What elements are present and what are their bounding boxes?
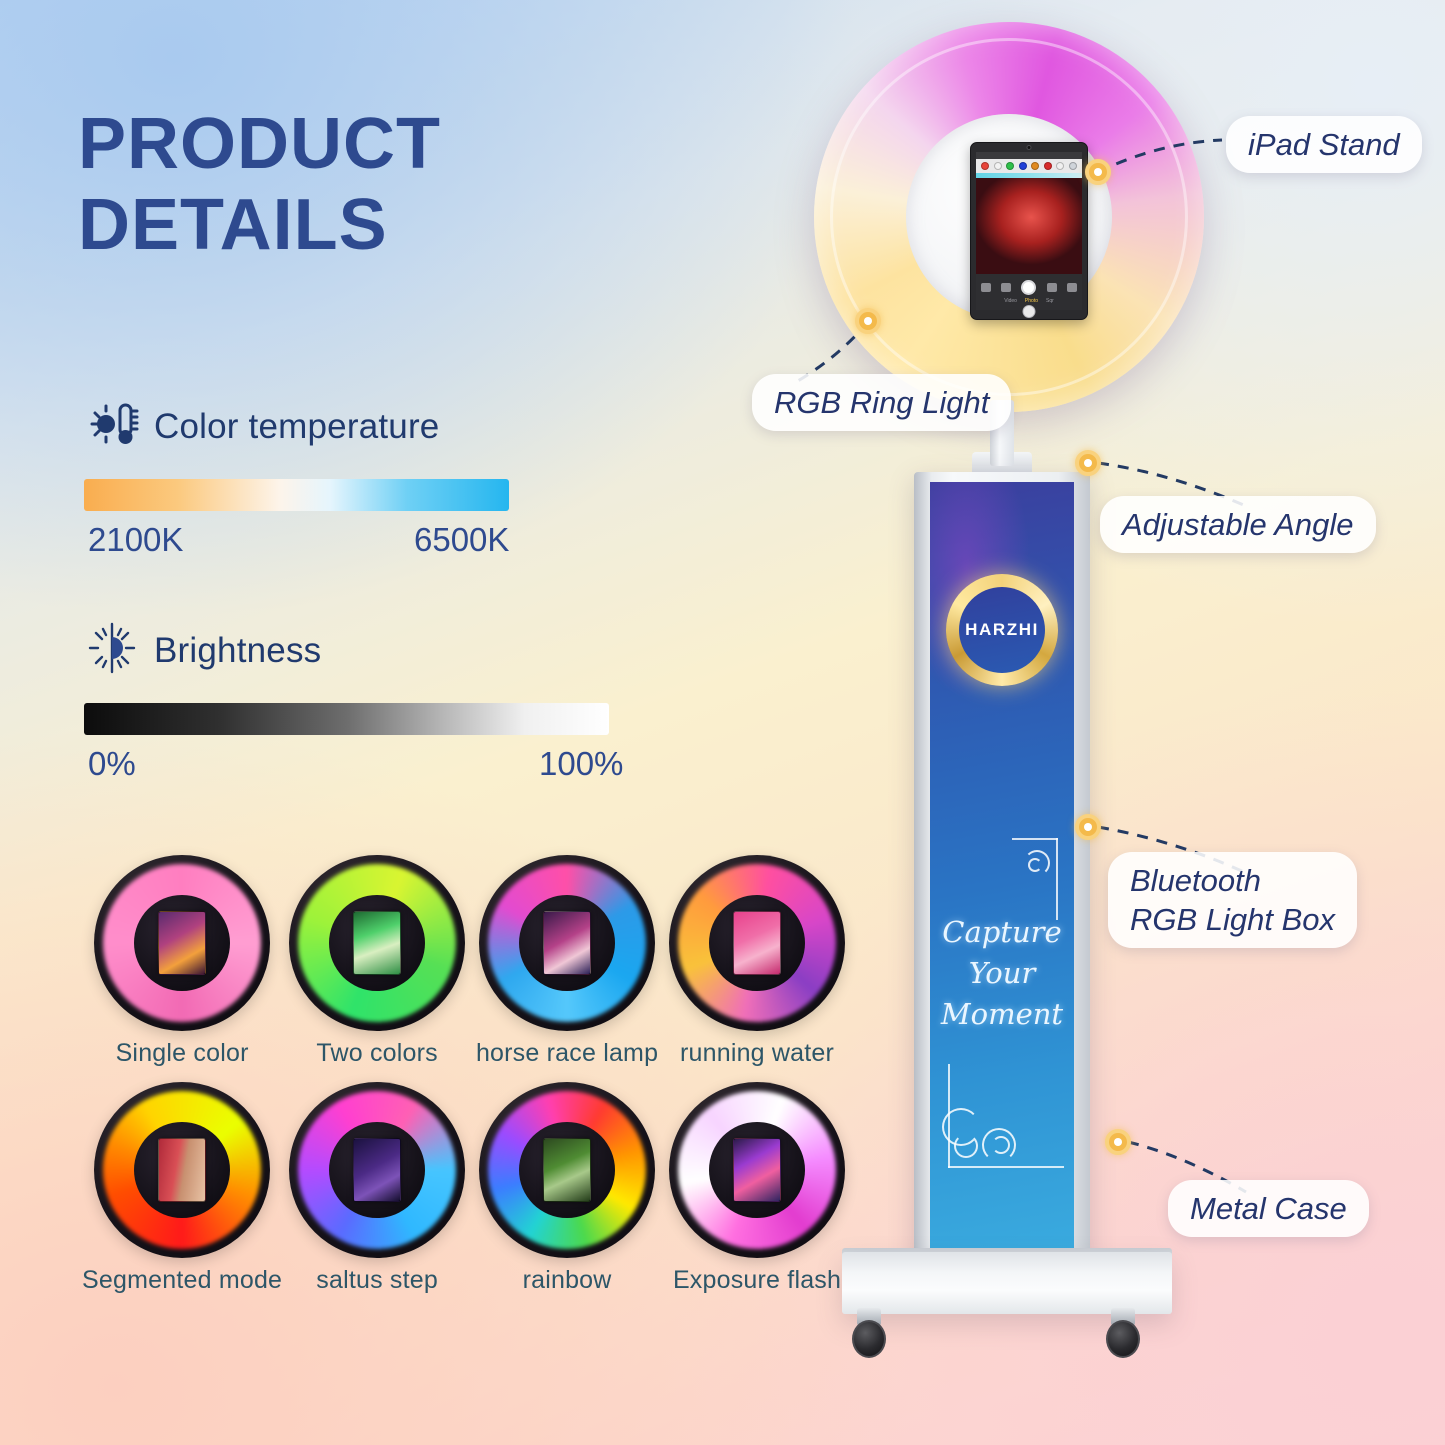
marker-rgb-ring-light: [855, 308, 881, 334]
callout-ipad-stand[interactable]: iPad Stand: [1226, 116, 1422, 173]
callout-adjustable-angle[interactable]: Adjustable Angle: [1100, 496, 1376, 553]
marker-ipad-stand: [1085, 159, 1111, 185]
callout-bluetooth-rgb-light-box[interactable]: Bluetooth RGB Light Box: [1108, 852, 1357, 948]
marker-adjustable-angle: [1075, 450, 1101, 476]
callout-bluetooth-line-2: RGB Light Box: [1130, 902, 1335, 937]
callout-rgb-ring-light[interactable]: RGB Ring Light: [752, 374, 1011, 431]
callout-bluetooth-line-1: Bluetooth: [1130, 863, 1261, 898]
marker-metal-case: [1105, 1129, 1131, 1155]
leader-ipad-stand: [1098, 140, 1222, 172]
callout-metal-case[interactable]: Metal Case: [1168, 1180, 1369, 1237]
marker-bluetooth-rgb-light-box: [1075, 814, 1101, 840]
leader-rgb-ring-light: [796, 322, 868, 382]
